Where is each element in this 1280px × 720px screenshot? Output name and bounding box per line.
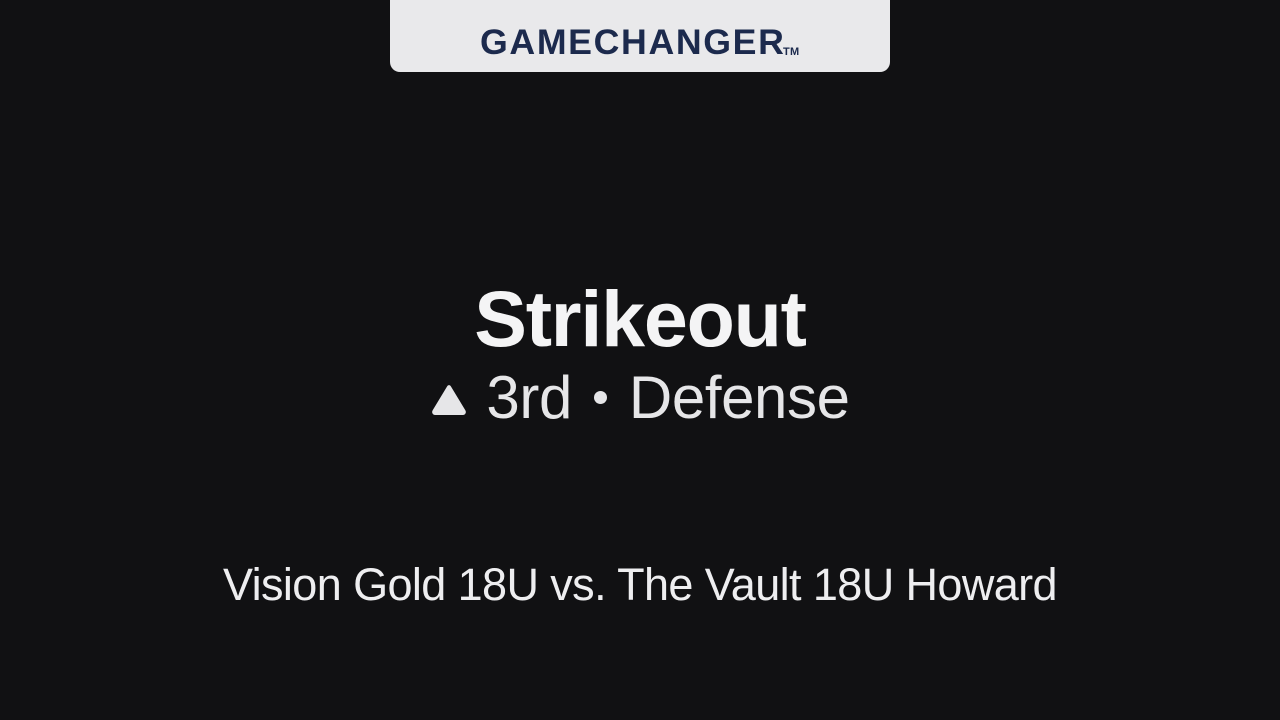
play-context-line: 3rd Defense xyxy=(0,368,1280,428)
matchup-label: Vision Gold 18U vs. The Vault 18U Howard xyxy=(0,562,1280,607)
inning-half-label: Defense xyxy=(629,368,850,428)
inning-label: 3rd xyxy=(486,368,572,428)
gamechanger-logo-badge: GAMECHANGER TM xyxy=(390,0,890,72)
context-separator-dot xyxy=(594,391,607,404)
play-card-screen: GAMECHANGER TM Strikeout 3rd Defense Vis… xyxy=(0,0,1280,720)
triangle-up-icon xyxy=(430,383,468,417)
play-title: Strikeout xyxy=(0,279,1280,358)
gamechanger-wordmark: GAMECHANGER TM xyxy=(480,25,799,60)
gamechanger-wordmark-text: GAMECHANGER xyxy=(480,25,786,60)
